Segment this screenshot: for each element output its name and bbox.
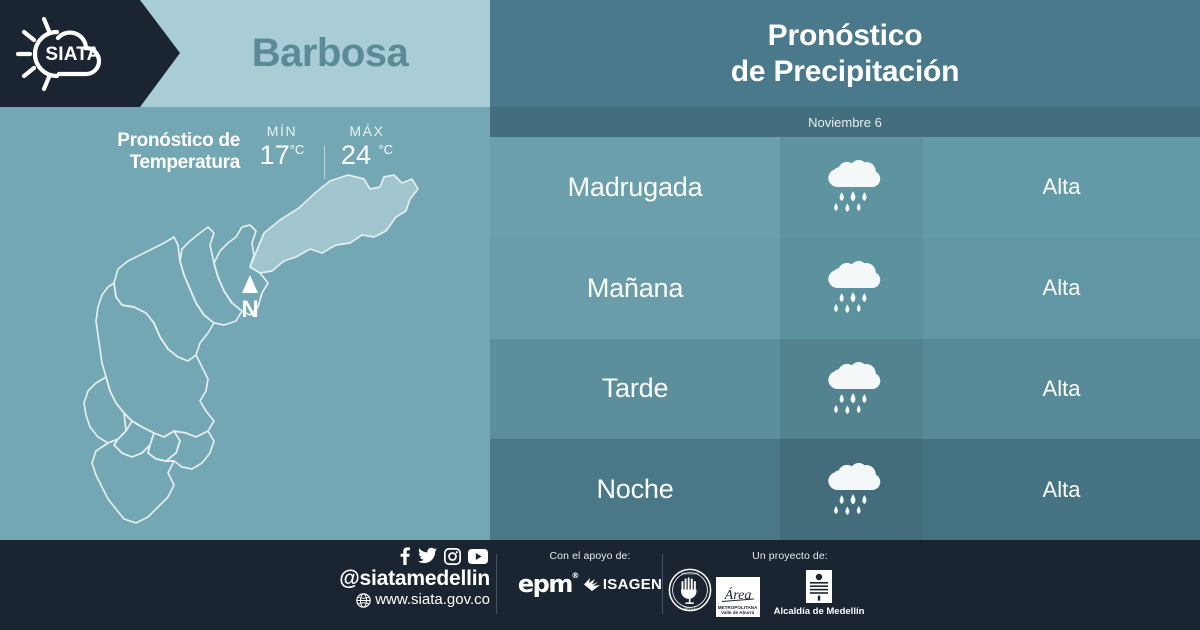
footer-sponsor: Con el apoyo de: epm® ISAGEN [515, 550, 665, 598]
temperature-min-unit: °C [290, 142, 305, 157]
footer-website[interactable]: www.siata.gov.co [300, 591, 490, 609]
area-script-icon: Área [718, 583, 758, 605]
footer: @siatamedellin www.siata.gov.co Con el a… [0, 540, 1200, 630]
svg-text:UNIVERSIDAD: UNIVERSIDAD [681, 571, 699, 575]
social-icons [300, 546, 490, 566]
project-caption: Un proyecto de: [700, 550, 880, 570]
valle-de-aburra-map: N [18, 165, 470, 535]
instagram-icon[interactable] [444, 548, 461, 565]
forecast-period: Tarde [490, 339, 780, 440]
rain-cloud-icon [819, 154, 885, 220]
map-municipality-barbosa [250, 175, 418, 273]
alcaldia-label: Alcaldía de Medellín [774, 606, 865, 617]
isagen-logo: ISAGEN [584, 576, 662, 593]
youtube-icon[interactable] [468, 549, 488, 564]
area-metropolitana-logo: Área METROPOLITANA Valle de Aburrá [716, 577, 760, 617]
forecast-period: Madrugada [490, 137, 780, 238]
footer-divider-1 [496, 554, 497, 614]
globe-icon [356, 593, 371, 608]
precipitation-title-line2: de Precipitación [731, 54, 960, 90]
precipitation-header: Pronóstico de Precipitación [490, 0, 1200, 107]
forecast-rows: Madrugada Alta [490, 137, 1200, 540]
temperature-max: MÁX 24 °C [325, 123, 409, 169]
map-municipality-caldas [92, 439, 174, 523]
facebook-icon[interactable] [399, 547, 411, 565]
alcaldia-medellin-logo: Alcaldía de Medellín [774, 570, 865, 617]
svg-text:SIATA: SIATA [45, 44, 100, 65]
rain-cloud-icon [819, 457, 885, 523]
svg-text:MEDELLIN: MEDELLIN [684, 606, 697, 610]
siata-logo-badge: SIATA [0, 0, 180, 107]
map-municipality-copacabana [180, 227, 242, 325]
footer-social: @siatamedellin www.siata.gov.co [300, 546, 490, 624]
temperature-max-label: MÁX [325, 123, 409, 141]
sponsor-caption: Con el apoyo de: [515, 550, 665, 570]
footer-divider-2 [662, 554, 663, 614]
forecast-period: Noche [490, 439, 780, 540]
isagen-mark-icon [584, 577, 600, 592]
epm-logo: epm® [518, 570, 572, 598]
rain-cloud-icon [819, 255, 885, 321]
forecast-probability: Alta [923, 339, 1200, 440]
table-row: Madrugada Alta [490, 137, 1200, 238]
map-panel: Pronóstico de Temperatura MÍN 17°C MÁX 2… [0, 107, 490, 540]
north-arrow-label: N [241, 296, 258, 323]
footer-project: Un proyecto de: Área METROPOLITANA Valle… [700, 550, 880, 617]
table-row: Tarde Alta [490, 339, 1200, 440]
forecast-icon-cell [780, 339, 923, 440]
forecast-probability: Alta [923, 238, 1200, 339]
sun-cloud-icon: SIATA [12, 14, 132, 94]
temperature-title-line1: Pronóstico de [117, 130, 240, 151]
rain-cloud-icon [819, 356, 885, 422]
page-title: Barbosa [170, 0, 490, 107]
table-row: Noche Alta [490, 439, 1200, 540]
forecast-probability: Alta [923, 137, 1200, 238]
left-panel: SIATA Barbosa Pronóstico de Temperatura … [0, 0, 490, 540]
forecast-date-bar: Noviembre 6 [490, 107, 1200, 137]
precipitation-title-line1: Pronóstico [768, 18, 923, 54]
forecast-icon-cell [780, 238, 923, 339]
table-row: Mañana Alta [490, 238, 1200, 339]
infographic-root: SIATA Barbosa Pronóstico de Temperatura … [0, 0, 1200, 630]
sponsor-logos: epm® ISAGEN [515, 570, 665, 598]
forecast-probability: Alta [923, 439, 1200, 540]
website-label: www.siata.gov.co [375, 591, 490, 609]
temperature-min: MÍN 17°C [240, 123, 324, 169]
project-logos: Área METROPOLITANA Valle de Aburrá [700, 570, 880, 617]
twitter-icon[interactable] [418, 547, 437, 565]
area-line2: Valle de Aburrá [721, 610, 754, 616]
forecast-period: Mañana [490, 238, 780, 339]
alcaldia-shield-icon [806, 570, 832, 603]
forecast-date: Noviembre 6 [808, 115, 882, 130]
forecast-icon-cell [780, 439, 923, 540]
precipitation-panel: Pronóstico de Precipitación Noviembre 6 … [490, 0, 1200, 540]
social-handle[interactable]: @siatamedellin [300, 566, 490, 591]
temperature-max-unit: °C [378, 142, 393, 157]
forecast-icon-cell [780, 137, 923, 238]
temperature-min-label: MÍN [240, 123, 324, 141]
north-arrow: N [241, 275, 258, 323]
city-header: SIATA Barbosa [0, 0, 490, 107]
map-municipality-medellin [96, 283, 214, 437]
